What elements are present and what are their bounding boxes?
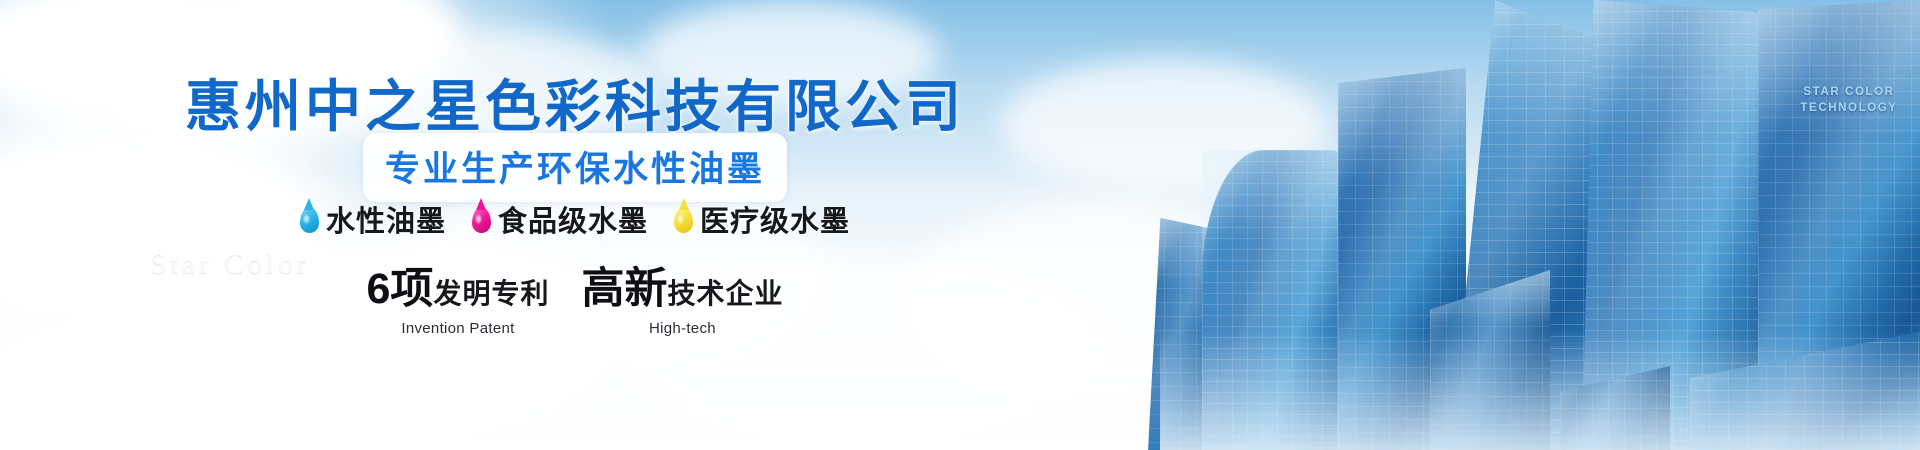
badge-highlight: 高新 bbox=[581, 265, 667, 313]
company-hero-banner: Star Color bbox=[0, 0, 1920, 450]
badge-chinese-text: 高新技术企业 bbox=[581, 268, 783, 311]
badge-suffix: 发明专利 bbox=[433, 278, 549, 309]
product-feature-list: 水性油墨 食品级水墨 医疗级水墨 bbox=[0, 198, 1150, 240]
credential-badge: 6项发明专利 Invention Patent bbox=[367, 268, 550, 337]
badge-english-caption: High-tech bbox=[581, 320, 783, 337]
building-tower bbox=[1202, 150, 1354, 450]
company-title: 惠州中之星色彩科技有限公司 bbox=[0, 62, 1150, 143]
water-drop-icon bbox=[674, 207, 693, 233]
feature-item: 食品级水墨 bbox=[472, 198, 648, 240]
feature-label: 水性油墨 bbox=[326, 198, 446, 240]
feature-label: 医疗级水墨 bbox=[700, 198, 850, 240]
credential-badge-list: 6项发明专利 Invention Patent 高新技术企业 High-tech bbox=[0, 268, 1150, 337]
subtitle-pill: 专业生产环保水性油墨 bbox=[363, 133, 787, 202]
badge-chinese-text: 6项发明专利 bbox=[367, 268, 550, 311]
badge-highlight: 6项 bbox=[367, 265, 434, 313]
subtitle-container: 专业生产环保水性油墨 bbox=[0, 133, 1150, 202]
feature-label: 食品级水墨 bbox=[498, 198, 648, 240]
banner-content: 惠州中之星色彩科技有限公司 专业生产环保水性油墨 水性油墨 食品级水墨 bbox=[0, 0, 1150, 450]
badge-suffix: 技术企业 bbox=[667, 278, 783, 309]
water-drop-icon bbox=[300, 207, 319, 233]
water-drop-icon bbox=[472, 207, 491, 233]
credential-badge: 高新技术企业 High-tech bbox=[581, 268, 783, 337]
skyscraper-cityscape bbox=[1130, 0, 1920, 450]
feature-item: 医疗级水墨 bbox=[674, 198, 850, 240]
feature-item: 水性油墨 bbox=[300, 198, 446, 240]
badge-english-caption: Invention Patent bbox=[367, 320, 550, 337]
